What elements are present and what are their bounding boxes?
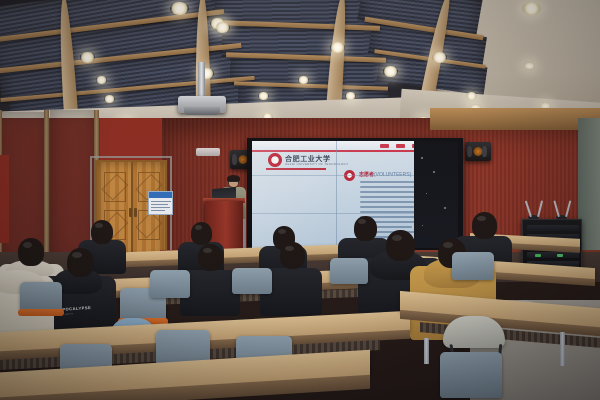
rack-status-led [557,254,563,257]
hair-highlight [358,219,366,224]
ceiling-downlight [258,92,269,100]
door-notice-sign [148,191,173,215]
air-conditioner-vent [196,148,220,156]
ceiling-downlight [466,92,477,100]
projector-mount-pole [198,62,205,98]
ceiling-downlight [345,92,356,100]
hair-highlight [477,216,486,221]
audience-head [386,230,415,261]
hair-highlight [72,252,82,258]
chair-back[interactable] [150,270,190,298]
hair-highlight [23,242,32,248]
ceiling-downlight [330,42,345,53]
presenter-glasses [230,181,237,183]
lecture-hall-photo: 合肥工业大学 HEFEI UNIVERSITY OF TECHNOLOGY 志愿… [0,0,600,400]
sign-text-line [151,201,171,202]
ceiling-downlight [80,52,95,63]
partition-frame [44,110,49,262]
ceiling-downlight [524,62,535,70]
wall-wood-trim [430,108,600,130]
speaker-right [465,142,491,161]
sign-text-line [151,210,165,211]
bag-grey [443,316,505,348]
chair-back[interactable] [440,352,502,398]
ceiling-downlight [170,2,189,15]
hair-highlight [443,242,453,248]
ceiling-downlight [522,2,541,15]
projector [178,96,226,113]
chair-back[interactable] [20,282,62,312]
hair-highlight [95,223,103,228]
hair-highlight [278,229,286,234]
sign-header-band [149,192,172,198]
sign-text-line [151,207,170,208]
chair-back[interactable] [452,252,494,280]
chair-back[interactable] [232,268,272,294]
ceiling-downlight [96,76,107,84]
desk-leg [560,332,565,366]
chair-seat[interactable] [18,309,64,316]
desk-leg [424,338,429,364]
rack-unit [527,225,579,231]
ceiling-downlight [215,22,230,33]
ceiling-downlight [383,66,398,77]
door-handle[interactable] [129,208,132,217]
chair-back[interactable] [330,258,368,284]
hair-highlight [392,235,402,241]
hair-highlight [203,248,212,253]
hair-highlight [195,225,202,230]
ceiling-downlight [432,52,447,63]
sign-text-line [151,204,168,205]
door-panel-motif [104,172,126,202]
ceiling-downlight [104,95,115,103]
ceiling-downlight [298,76,309,84]
hair-highlight [285,246,294,251]
rack-status-led [535,254,541,257]
wall-red-strip [0,155,9,243]
door-handle[interactable] [134,208,137,217]
